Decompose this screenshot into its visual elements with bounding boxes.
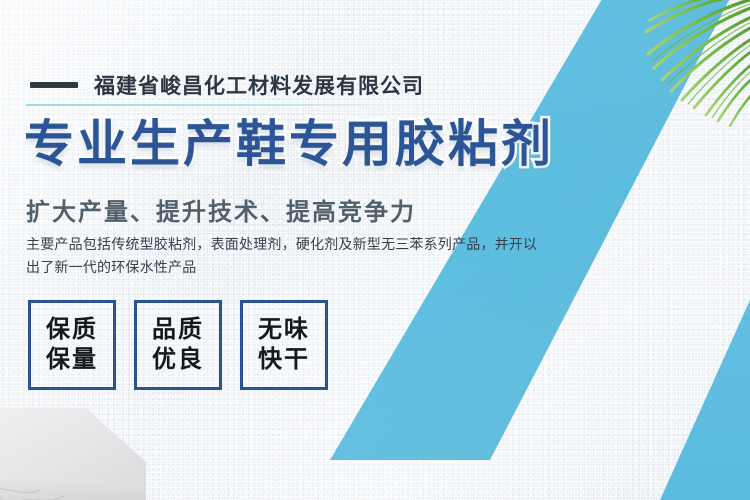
feature-badge-line-2: 快干: [258, 345, 310, 375]
feature-badge-line-1: 无味: [258, 315, 310, 345]
feature-badge-line-2: 优良: [152, 345, 204, 375]
feature-badge-line-1: 品质: [152, 315, 204, 345]
feature-badge-line-2: 保量: [46, 345, 98, 375]
feature-badges: 保质 保量 品质 优良 无味 快干: [28, 300, 328, 390]
feature-badge: 品质 优良: [134, 300, 222, 390]
headline: 专业生产鞋专用胶粘剂: [24, 119, 554, 169]
description-line-2: 出了新一代的环保水性产品: [26, 256, 546, 279]
company-row: 福建省峻昌化工材料发展有限公司: [30, 70, 424, 100]
divider-rule: [26, 104, 386, 106]
feature-badge-line-1: 保质: [46, 315, 98, 345]
feature-badge: 保质 保量: [28, 300, 116, 390]
feature-badge: 无味 快干: [240, 300, 328, 390]
company-name: 福建省峻昌化工材料发展有限公司: [94, 70, 424, 100]
banner-content: 福建省峻昌化工材料发展有限公司 专业生产鞋专用胶粘剂 扩大产量、提升技术、提高竞…: [0, 0, 750, 500]
promo-banner: 福建省峻昌化工材料发展有限公司 专业生产鞋专用胶粘剂 扩大产量、提升技术、提高竞…: [0, 0, 750, 500]
description: 主要产品包括传统型胶粘剂，表面处理剂，硬化剂及新型无三苯系列产品，并开以 出了新…: [26, 233, 546, 279]
description-line-1: 主要产品包括传统型胶粘剂，表面处理剂，硬化剂及新型无三苯系列产品，并开以: [26, 233, 546, 256]
dash-mark-icon: [30, 82, 78, 88]
subheadline: 扩大产量、提升技术、提高竞争力: [26, 192, 416, 227]
